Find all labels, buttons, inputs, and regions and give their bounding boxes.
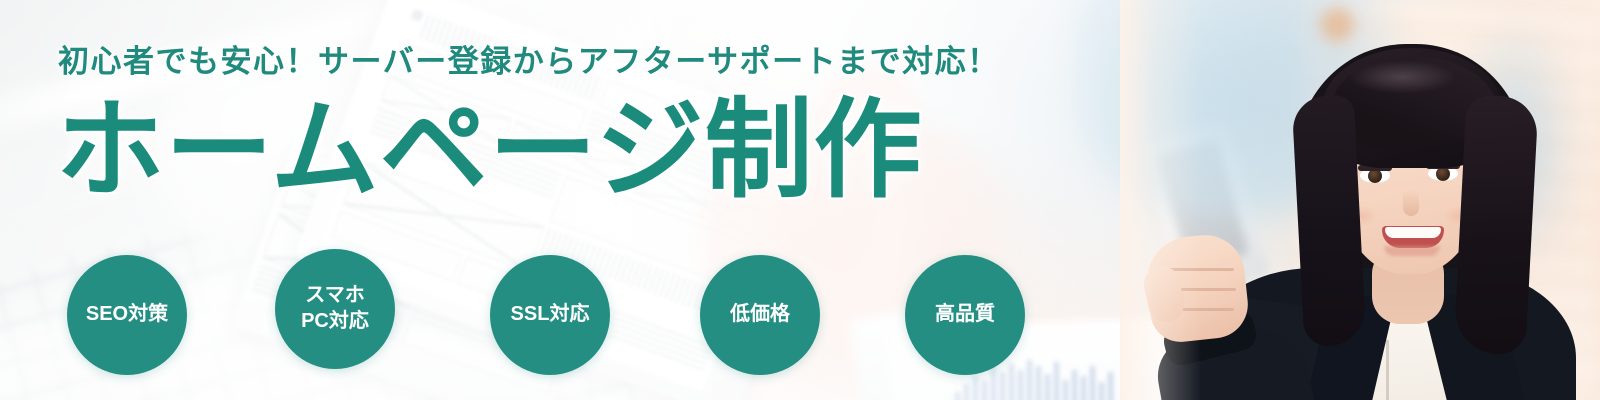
feature-badge-high-quality-line-1: 高品質: [935, 302, 995, 328]
feature-badge-low-price[interactable]: 低価格: [700, 255, 820, 375]
feature-badge-responsive[interactable]: スマホ PC対応: [275, 249, 395, 369]
feature-badge-seo-line-1: SEO対策: [86, 302, 168, 328]
hair-highlight: [1348, 60, 1456, 94]
hair-side-right: [1453, 94, 1538, 355]
hair-side-left: [1292, 95, 1367, 348]
smiling-mouth: [1382, 226, 1444, 248]
lower-lip: [1384, 246, 1440, 256]
hero-banner: 初心者でも安心！サーバー登録からアフターサポートまで対応！ ホームページ制作 S…: [0, 0, 1600, 400]
blouse-fold: [1386, 340, 1389, 400]
iris-right: [1436, 167, 1450, 181]
teeth: [1385, 227, 1441, 238]
nose: [1403, 190, 1419, 216]
feature-badge-ssl-line-1: SSL対応: [511, 302, 590, 328]
feature-badge-responsive-line-1: スマホ: [305, 283, 364, 309]
businesswoman-photo: [1120, 0, 1600, 400]
iris-left: [1368, 169, 1382, 183]
feature-badge-responsive-line-2: PC対応: [301, 309, 369, 335]
feature-badge-low-price-line-1: 低価格: [730, 302, 790, 328]
feature-badge-seo[interactable]: SEO対策: [67, 255, 187, 375]
feature-badge-ssl[interactable]: SSL対応: [490, 255, 610, 375]
feature-badge-group: SEO対策 スマホ PC対応 SSL対応 低価格 高品質: [0, 0, 1120, 400]
feature-badge-high-quality[interactable]: 高品質: [905, 255, 1025, 375]
